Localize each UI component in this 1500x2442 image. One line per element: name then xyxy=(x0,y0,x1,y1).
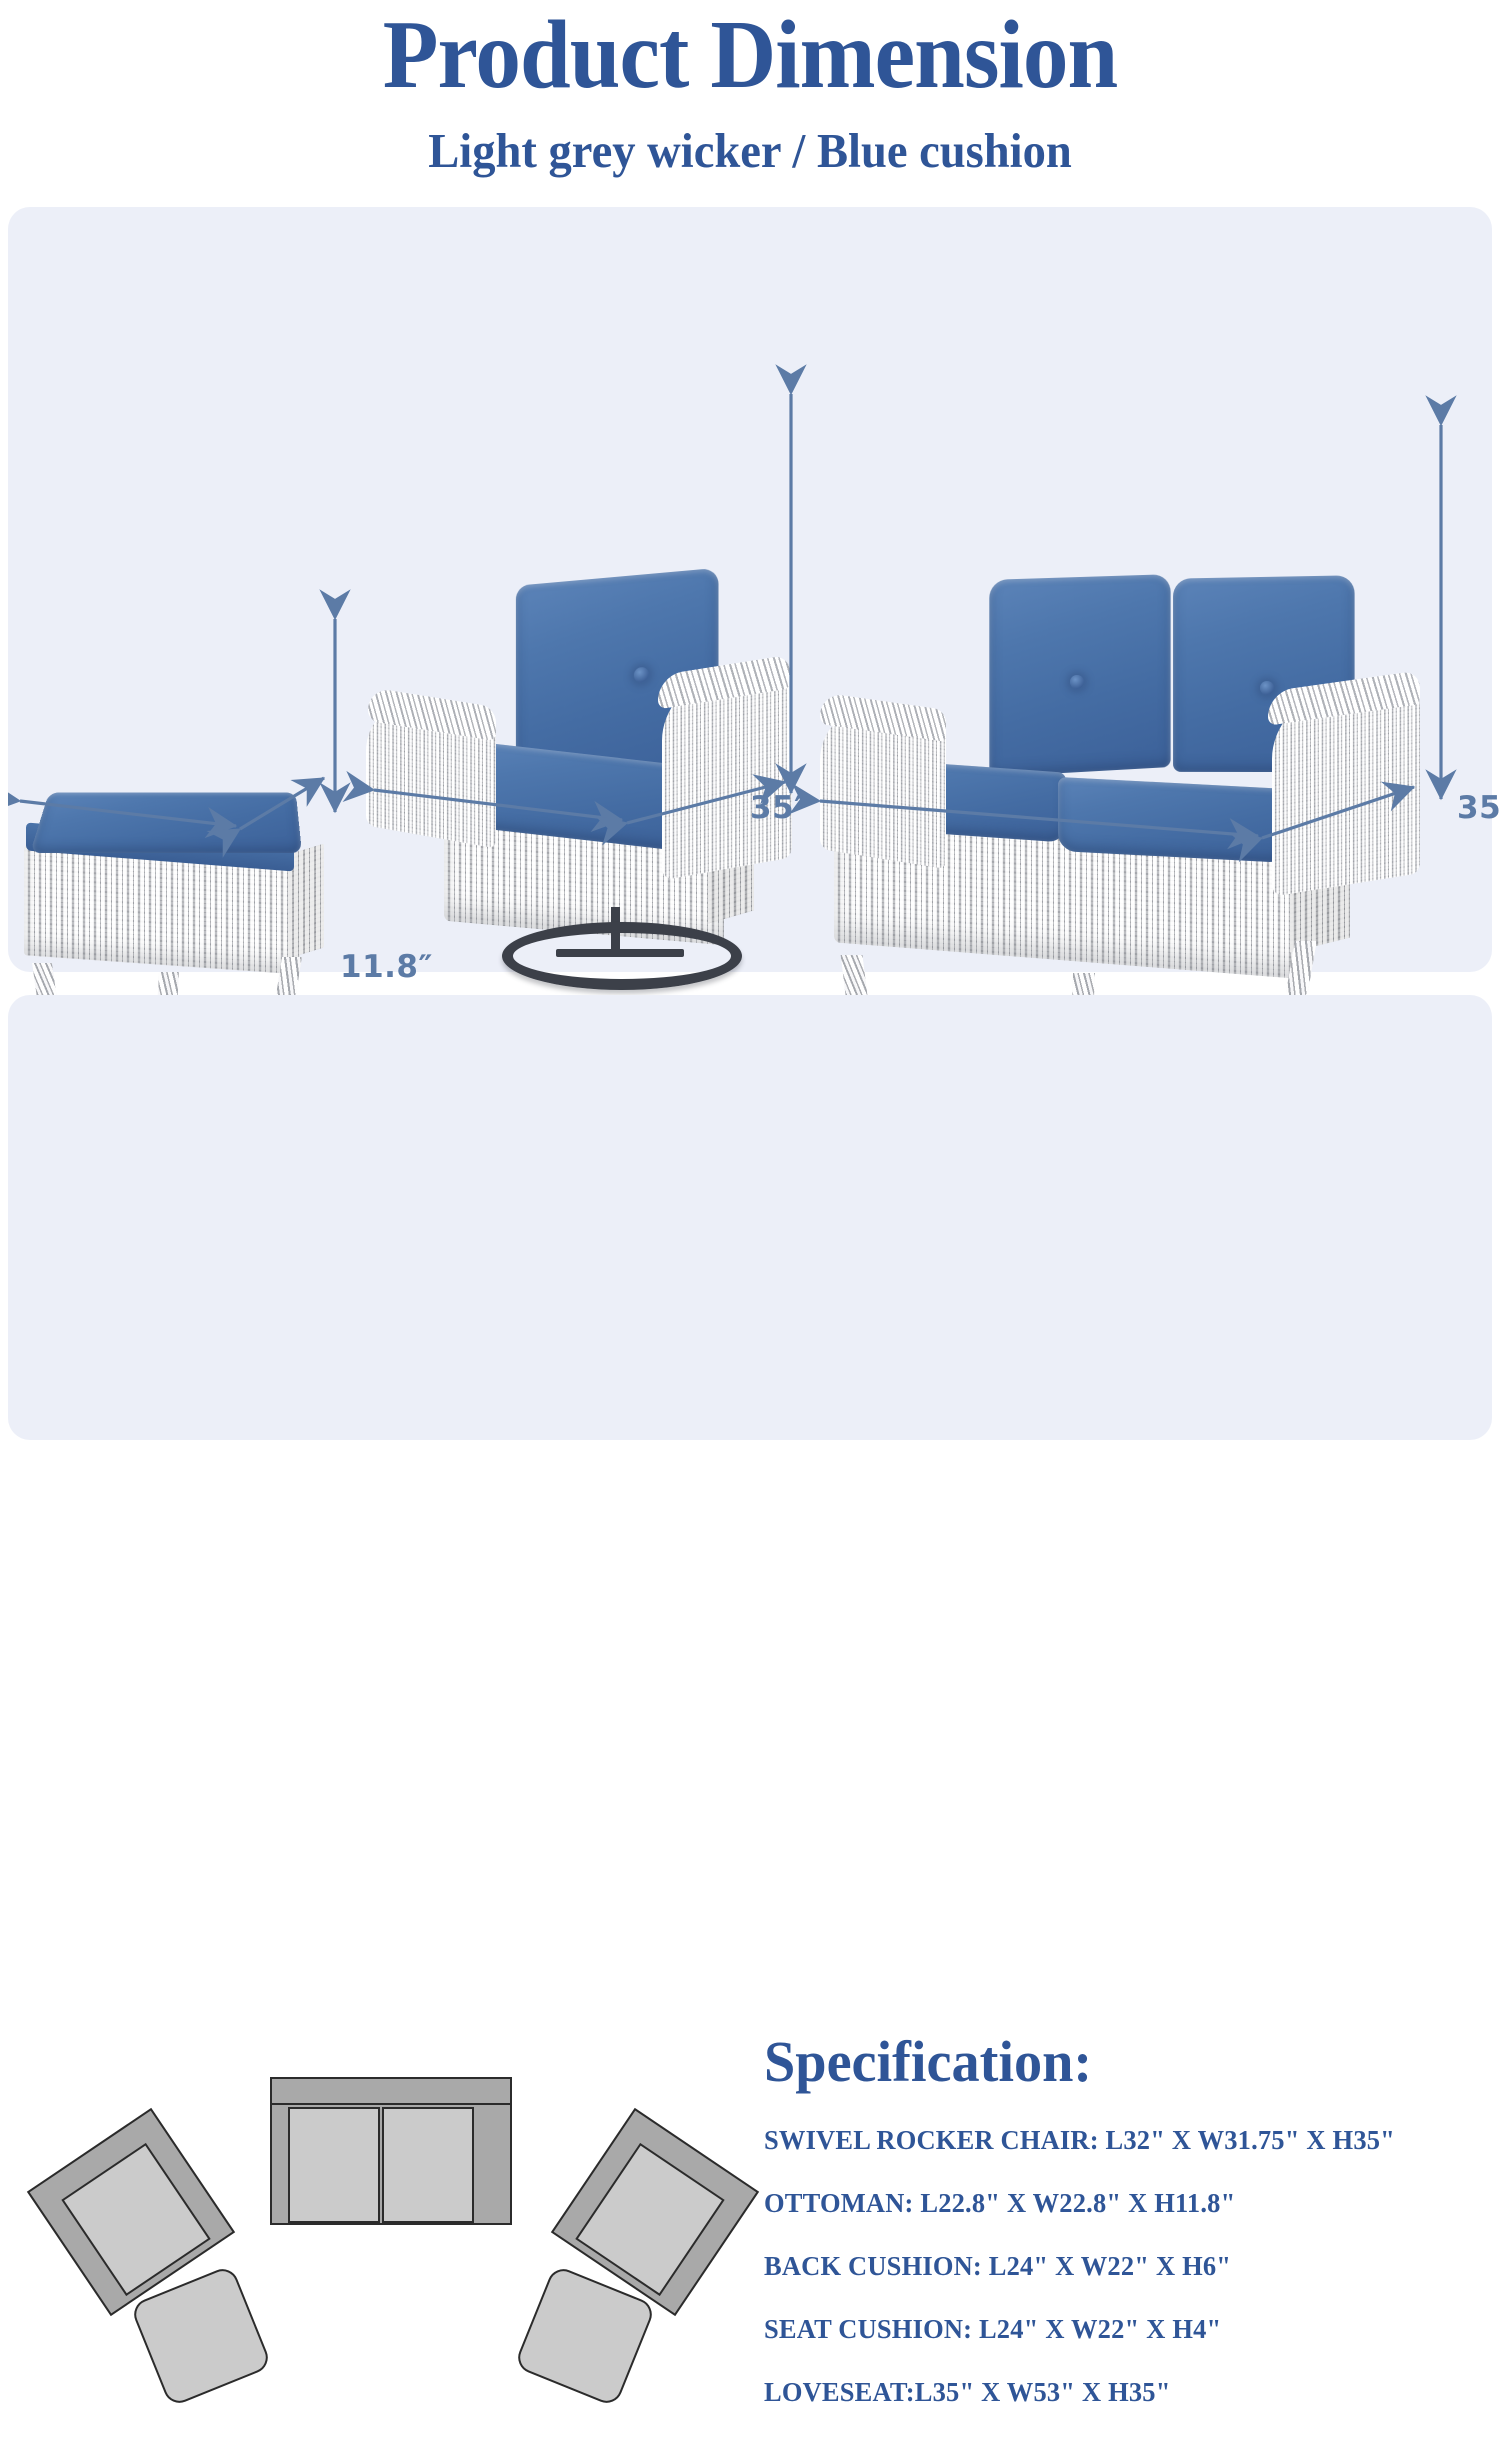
spec-line-loveseat: LOVESEAT:L35" X W53" X H35" xyxy=(764,2379,1470,2406)
loveseat-tuft-button-right xyxy=(1260,681,1274,695)
page-subtitle: Light grey wicker / Blue cushion xyxy=(38,126,1463,175)
plan-loveseat xyxy=(270,2077,512,2225)
page-title: Product Dimension xyxy=(45,0,1455,103)
product-illustrations xyxy=(8,207,1492,972)
dimensions-panel: 22.8″ 22.8″ 11.8″ 31.75″ 32″ 35″ 53″ 35″… xyxy=(8,207,1492,972)
loveseat-seat-cushion-right xyxy=(1058,777,1290,863)
rocker-height-label: 35″ xyxy=(750,790,809,826)
loveseat-tuft-button-left xyxy=(1070,675,1084,689)
ottoman-illustration xyxy=(16,779,336,1019)
spec-line-back-cushion: BACK CUSHION: L24" X W22" X H6" xyxy=(764,2253,1470,2280)
specification-text-block: Specification: SWIVEL ROCKER CHAIR: L32"… xyxy=(764,2033,1484,2442)
ottoman-height-label: 11.8″ xyxy=(340,949,433,985)
plan-loveseat-seat-right xyxy=(382,2107,474,2223)
plan-loveseat-backrest xyxy=(270,2077,512,2105)
spec-line-ottoman: OTTOMAN: L22.8" X W22.8" X H11.8" xyxy=(764,2190,1470,2217)
layout-diagram xyxy=(18,2033,748,2429)
plan-loveseat-seat-left xyxy=(288,2107,380,2223)
spec-line-seat-cushion: SEAT CUSHION: L24" X W22" X H4" xyxy=(764,2316,1470,2343)
spec-line-swivel-rocker-chair: SWIVEL ROCKER CHAIR: L32" X W31.75" X H3… xyxy=(764,2127,1470,2154)
rocker-swivel-base-ring xyxy=(502,922,742,990)
loveseat-illustration xyxy=(820,569,1450,1019)
specification-title: Specification: xyxy=(764,2033,1462,2091)
specification-panel: Specification: SWIVEL ROCKER CHAIR: L32"… xyxy=(8,995,1492,1440)
ottoman-blue-cushion xyxy=(30,793,302,853)
loveseat-height-label: 35″ xyxy=(1457,790,1500,826)
rocker-tuft-button xyxy=(634,667,649,683)
page-header: Product Dimension Light grey wicker / Bl… xyxy=(0,0,1500,207)
